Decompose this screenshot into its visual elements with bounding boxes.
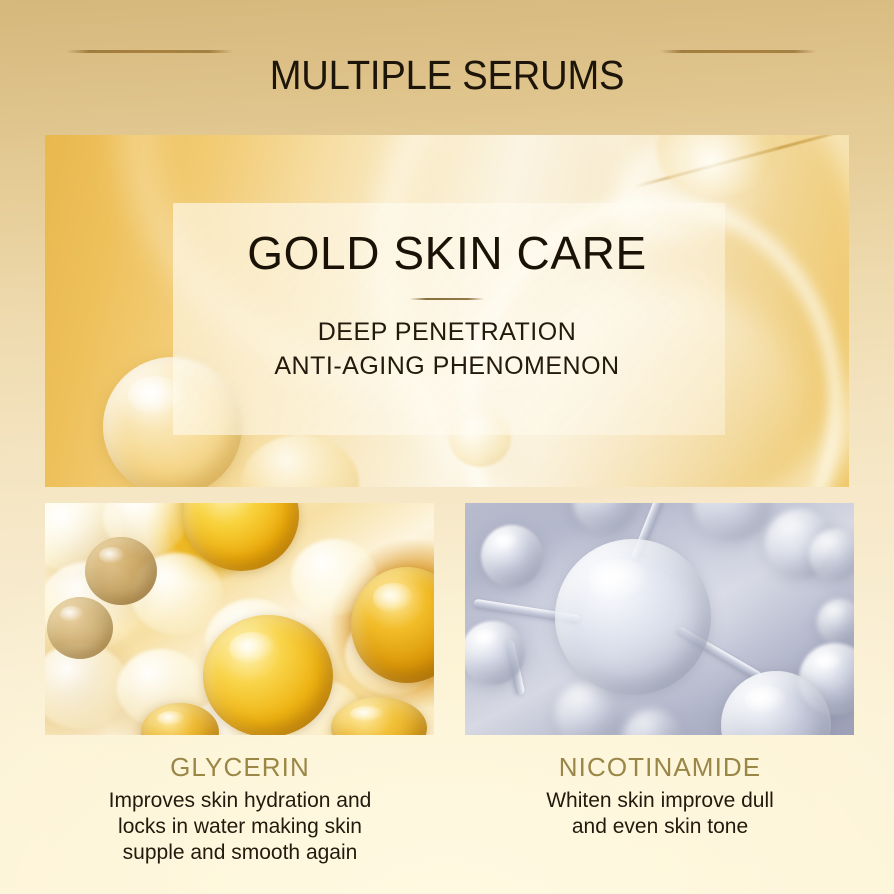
molecule-sphere	[809, 529, 854, 581]
gold-droplet	[47, 597, 113, 659]
ingredient-caption-glycerin: GLYCERIN Improves skin hydration and loc…	[40, 752, 440, 866]
ingredient-image-glycerin	[45, 503, 434, 735]
molecule-sphere	[817, 599, 854, 645]
promo-page: MULTIPLE SERUMS LEAVE SKIN GLOWING GOLD …	[0, 0, 894, 894]
ingredient-description-nicotinamide: Whiten skin improve dull and even skin t…	[460, 788, 860, 840]
gold-droplet	[85, 537, 157, 605]
molecule-sphere	[623, 709, 681, 735]
ingredient-caption-nicotinamide: NICOTINAMIDE Whiten skin improve dull an…	[460, 752, 860, 840]
hero-text-block: GOLD SKIN CARE DEEP PENETRATION ANTI-AGI…	[45, 135, 849, 487]
hero-title: GOLD SKIN CARE	[247, 228, 647, 278]
ingredient-image-nicotinamide	[465, 503, 854, 735]
molecule-sphere-main	[555, 539, 711, 695]
page-title-line-1: MULTIPLE SERUMS	[31, 55, 862, 96]
ingredient-name-glycerin: GLYCERIN	[40, 752, 440, 782]
hero-banner: GOLD SKIN CARE DEEP PENETRATION ANTI-AGI…	[45, 135, 849, 487]
hero-subtitle-2: ANTI-AGING PHENOMENON	[274, 351, 619, 382]
ingredient-description-glycerin: Improves skin hydration and locks in wat…	[40, 788, 440, 866]
page-header: MULTIPLE SERUMS LEAVE SKIN GLOWING	[0, 0, 894, 120]
ingredient-name-nicotinamide: NICOTINAMIDE	[460, 752, 860, 782]
gold-droplet	[203, 615, 333, 735]
molecule-sphere	[573, 503, 637, 533]
molecule-sphere	[693, 503, 771, 541]
molecule-sphere	[481, 525, 543, 587]
hero-divider	[410, 298, 484, 300]
hero-subtitle-1: DEEP PENETRATION	[318, 317, 577, 348]
